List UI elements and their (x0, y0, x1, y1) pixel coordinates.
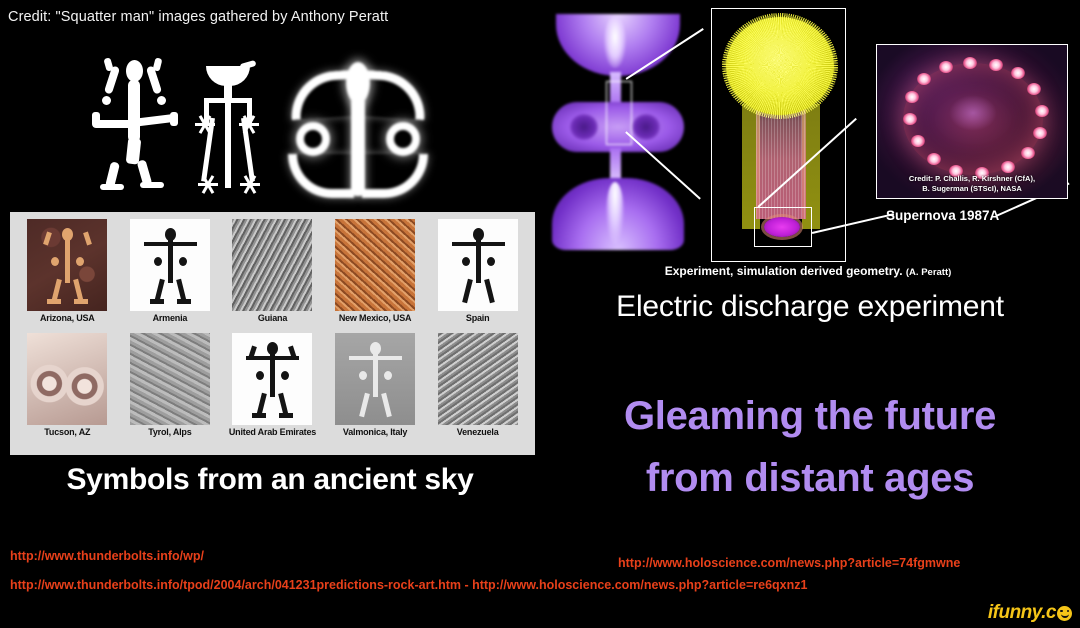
petroglyph-thumb-valmonica (335, 333, 415, 425)
ifunny-text: ifunny.c (988, 602, 1056, 624)
experiment-caption: Experiment, simulation derived geometry.… (536, 264, 1080, 278)
petroglyph-thumb-new-mexico (335, 219, 415, 311)
petroglyph-thumb-venezuela (438, 333, 518, 425)
petroglyph-thumb-tyrol (130, 333, 210, 425)
supernova-1987a-image: Credit: P. Challis, R. Kirshner (CfA), B… (876, 44, 1068, 199)
petroglyph-cell-armenia[interactable]: Armenia (121, 219, 219, 333)
petroglyph-cell-arizona[interactable]: Arizona, USA (18, 219, 116, 333)
experiment-caption-main: Experiment, simulation derived geometry. (665, 264, 903, 278)
headline-gleaming-future: Gleaming the future from distant ages (540, 385, 1080, 509)
petroglyph-cell-new-mexico[interactable]: New Mexico, USA (326, 219, 424, 333)
headline-gleaming-line-1: Gleaming the future (540, 385, 1080, 447)
squatter-man-petroglyph-photo (78, 52, 188, 197)
url-holoscience-1[interactable]: http://www.holoscience.com/news.php?arti… (618, 556, 960, 570)
url-thunderbolts-tpod[interactable]: http://www.thunderbolts.info/tpod/2004/a… (10, 578, 807, 592)
petroglyph-row-1: Arizona, USA Armenia Guiana New Mexico, … (16, 219, 529, 333)
electric-discharge-diagram: Credit: P. Challis, R. Kirshner (CfA), B… (536, 0, 1080, 290)
ifunny-watermark: ifunny.c (988, 602, 1072, 624)
petroglyph-cell-venezuela[interactable]: Venezuela (429, 333, 527, 447)
petroglyph-cell-guiana[interactable]: Guiana (223, 219, 321, 333)
petroglyph-label: Arizona, USA (40, 313, 95, 323)
supernova-credit-line-2: B. Sugerman (STScI), NASA (877, 184, 1067, 194)
experiment-caption-attribution: (A. Peratt) (906, 267, 951, 278)
plasma-simulation-panel (711, 8, 846, 262)
petroglyph-label: United Arab Emirates (229, 427, 316, 437)
plasma-torus-dome (726, 17, 834, 115)
petroglyph-label: Tucson, AZ (44, 427, 90, 437)
petroglyph-thumb-spain (438, 219, 518, 311)
headline-electric-discharge: Electric discharge experiment (540, 290, 1080, 324)
petroglyph-cell-tyrol[interactable]: Tyrol, Alps (121, 333, 219, 447)
smiley-icon (1057, 606, 1072, 621)
petroglyph-cell-uae[interactable]: United Arab Emirates (223, 333, 321, 447)
petroglyph-grid-panel: Arizona, USA Armenia Guiana New Mexico, … (10, 212, 535, 455)
squatter-man-trio (60, 48, 480, 198)
petroglyph-thumb-arizona (27, 219, 107, 311)
petroglyph-label: Tyrol, Alps (148, 427, 191, 437)
squatter-man-figure-a-icon (78, 52, 188, 197)
top-credit-text: Credit: "Squatter man" images gathered b… (8, 9, 388, 25)
petroglyph-cell-valmonica[interactable]: Valmonica, Italy (326, 333, 424, 447)
petroglyph-label: Spain (466, 313, 490, 323)
petroglyph-thumb-guiana (232, 219, 312, 311)
squatter-man-plasma-icon (270, 50, 445, 198)
supernova-credit-line-1: Credit: P. Challis, R. Kirshner (CfA), (877, 174, 1067, 184)
supernova-ring (903, 63, 1043, 175)
petroglyph-label: Guiana (258, 313, 287, 323)
petroglyph-label: Venezuela (457, 427, 499, 437)
supernova-label: Supernova 1987A (886, 208, 999, 223)
squatter-man-figure-b-icon (192, 56, 264, 196)
headline-symbols-ancient-sky: Symbols from an ancient sky (0, 463, 540, 497)
poster-canvas: Credit: "Squatter man" images gathered b… (0, 0, 1080, 628)
petroglyph-label: New Mexico, USA (339, 313, 412, 323)
headline-gleaming-line-2: from distant ages (540, 447, 1080, 509)
petroglyph-cell-tucson[interactable]: Tucson, AZ (18, 333, 116, 447)
petroglyph-thumb-uae (232, 333, 312, 425)
supernova-credit: Credit: P. Challis, R. Kirshner (CfA), B… (877, 174, 1067, 193)
petroglyph-thumb-tucson (27, 333, 107, 425)
petroglyph-row-2: Tucson, AZ Tyrol, Alps United Arab Emira… (16, 333, 529, 447)
petroglyph-label: Armenia (153, 313, 188, 323)
simulation-region-of-interest-box (754, 207, 812, 247)
plasma-instability-figure-photo (270, 50, 445, 198)
url-thunderbolts-wp[interactable]: http://www.thunderbolts.info/wp/ (10, 549, 204, 563)
bird-headed-stick-figure-photo (192, 56, 264, 196)
petroglyph-thumb-armenia (130, 219, 210, 311)
petroglyph-label: Valmonica, Italy (343, 427, 407, 437)
petroglyph-cell-spain[interactable]: Spain (429, 219, 527, 333)
